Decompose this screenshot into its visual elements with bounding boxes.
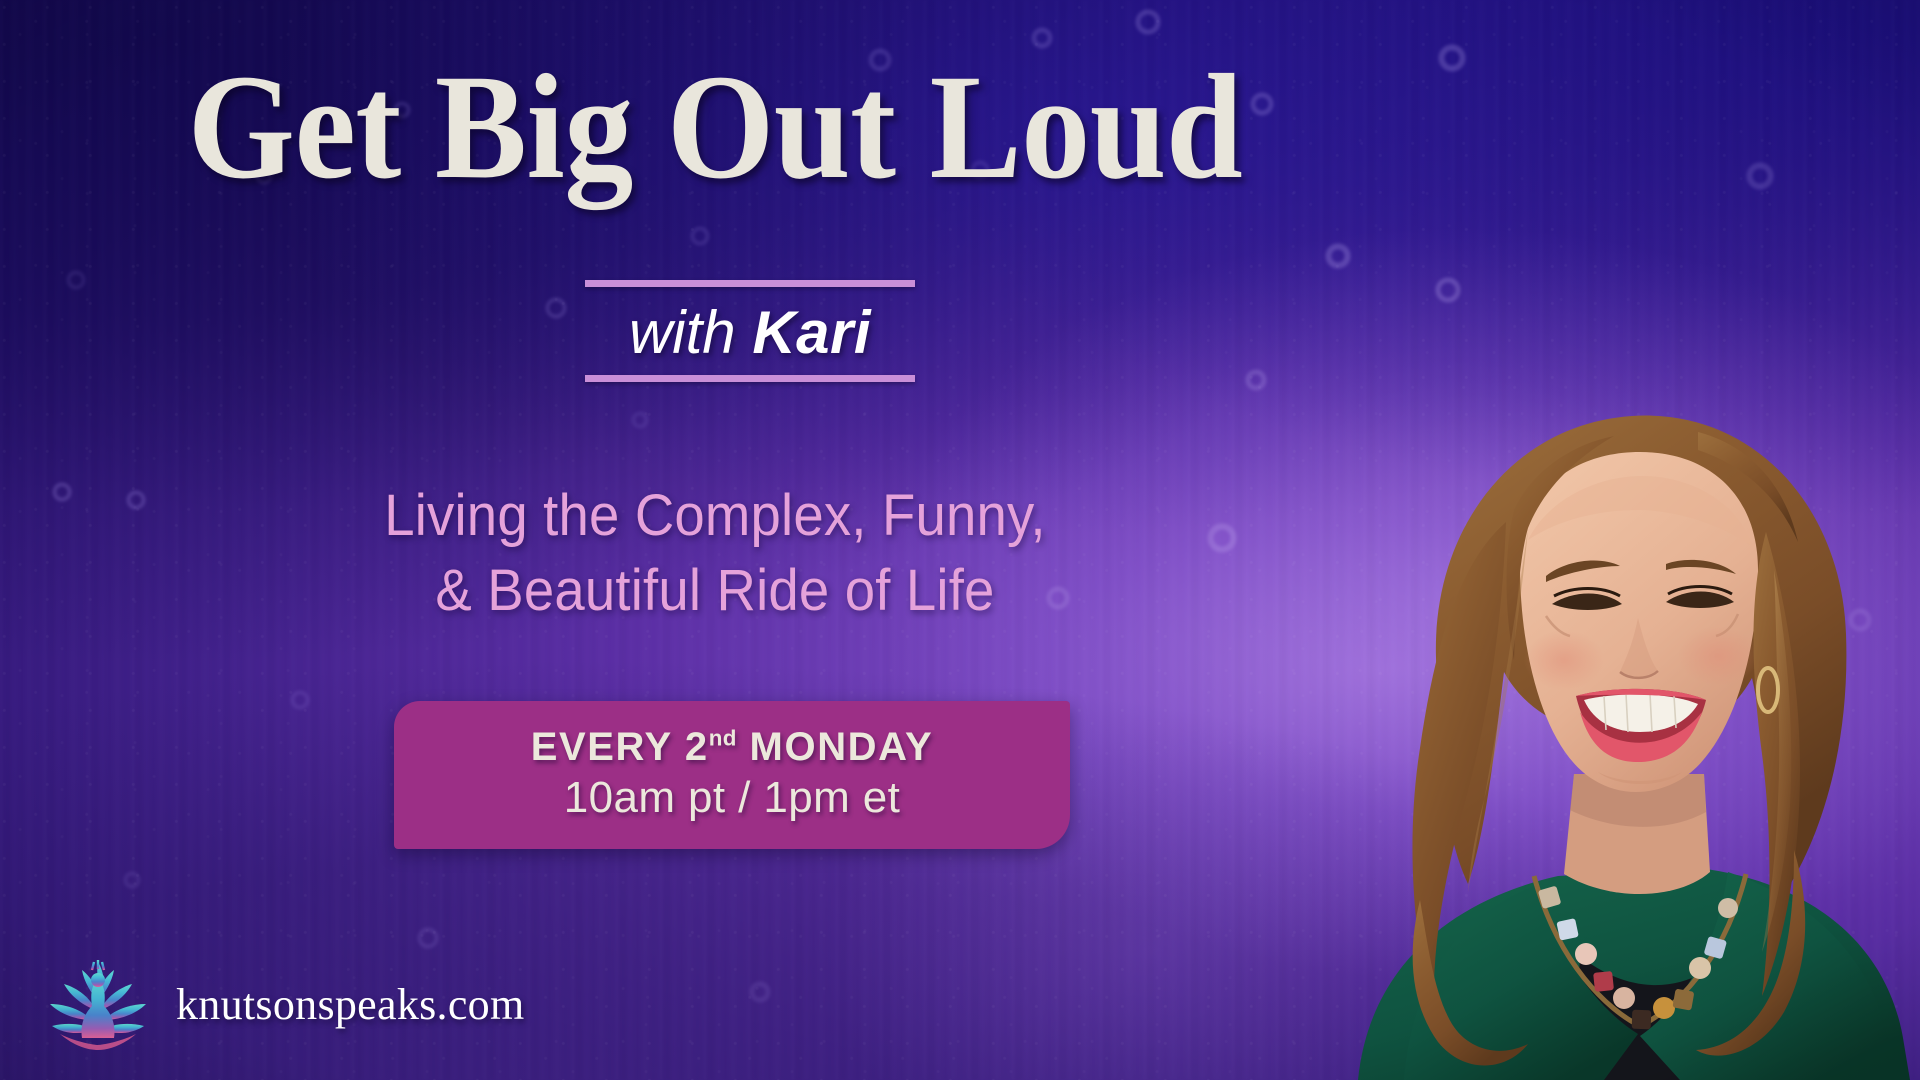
promo-banner: Get Big Out Loud with Kari Living the Co…	[0, 0, 1920, 1080]
vignette-overlay	[0, 0, 1920, 1080]
